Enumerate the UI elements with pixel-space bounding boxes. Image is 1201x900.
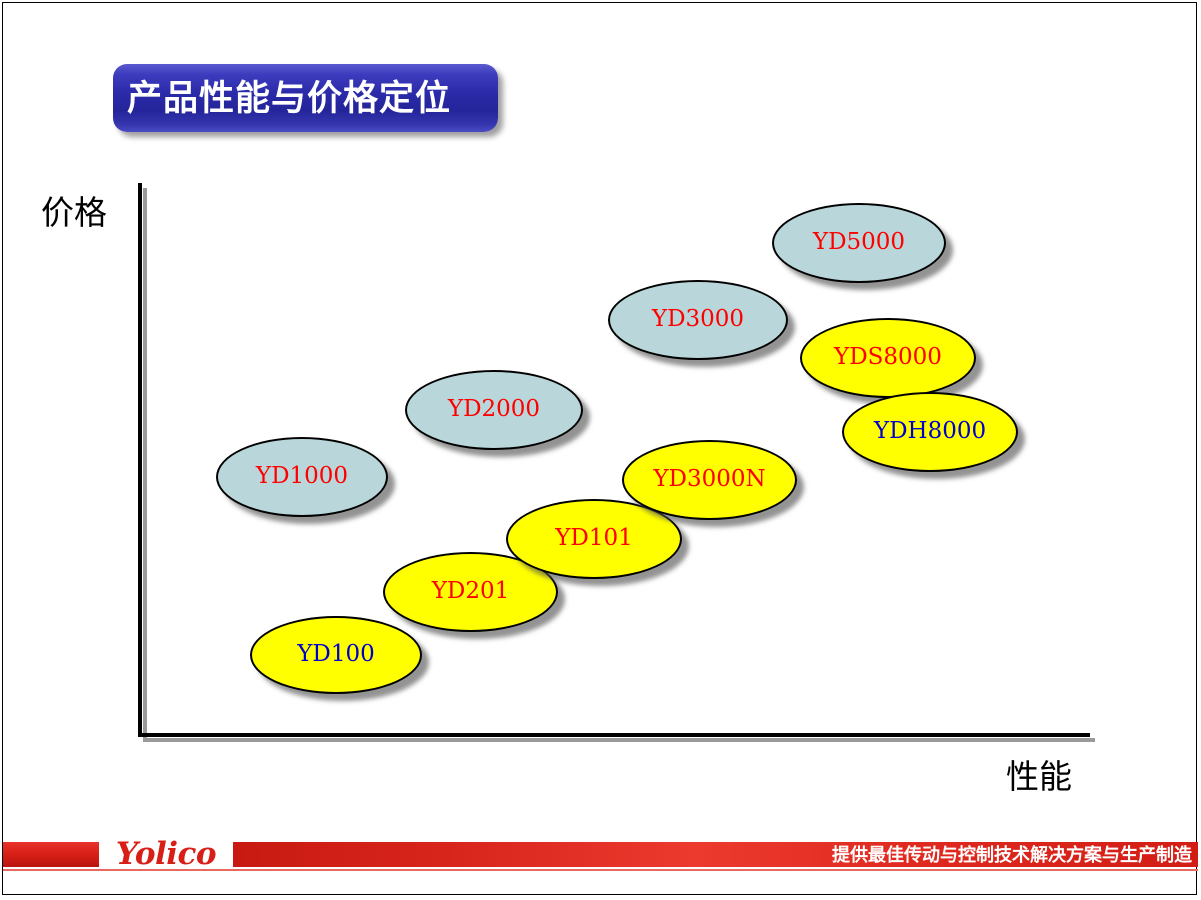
product-bubble[interactable]: YD100: [250, 616, 422, 694]
product-bubble-label: YD5000: [813, 231, 905, 254]
product-bubble-label: YD100: [297, 643, 375, 666]
footer: Yolico 提供最佳传动与控制技术解决方案与生产制造: [3, 836, 1198, 872]
product-bubble-label: YD201: [432, 580, 510, 603]
product-bubble[interactable]: YD1000: [216, 437, 388, 517]
product-bubble-label: YD1000: [256, 465, 348, 488]
brand-logo: Yolico: [99, 836, 233, 872]
product-bubble-label: YD2000: [448, 398, 540, 421]
product-bubble-label: YD3000N: [653, 468, 765, 491]
footer-tagline: 提供最佳传动与控制技术解决方案与生产制造: [832, 846, 1198, 864]
footer-bar-right: 提供最佳传动与控制技术解决方案与生产制造: [233, 842, 1198, 867]
footer-rule: [3, 869, 1198, 871]
product-bubble[interactable]: YD3000: [608, 280, 788, 360]
product-bubble[interactable]: YD2000: [405, 370, 583, 450]
footer-bar-left: [3, 842, 99, 867]
product-bubble[interactable]: YDH8000: [842, 392, 1018, 472]
product-bubble-label: YDS8000: [834, 346, 942, 369]
product-bubble-label: YD101: [555, 527, 633, 550]
brand-logo-text: Yolico: [116, 839, 216, 870]
bubble-chart-plot-area: YD1000YD2000YD3000YD5000YD100YD201YD101Y…: [0, 0, 1201, 900]
product-bubble[interactable]: YD3000N: [622, 440, 797, 520]
product-bubble-label: YD3000: [652, 308, 744, 331]
product-bubble[interactable]: YDS8000: [800, 318, 976, 398]
product-bubble-label: YDH8000: [874, 420, 986, 443]
product-bubble[interactable]: YD5000: [772, 203, 946, 283]
slide: 产品性能与价格定位 价格 性能 YD1000YD2000YD3000YD5000…: [0, 0, 1201, 900]
